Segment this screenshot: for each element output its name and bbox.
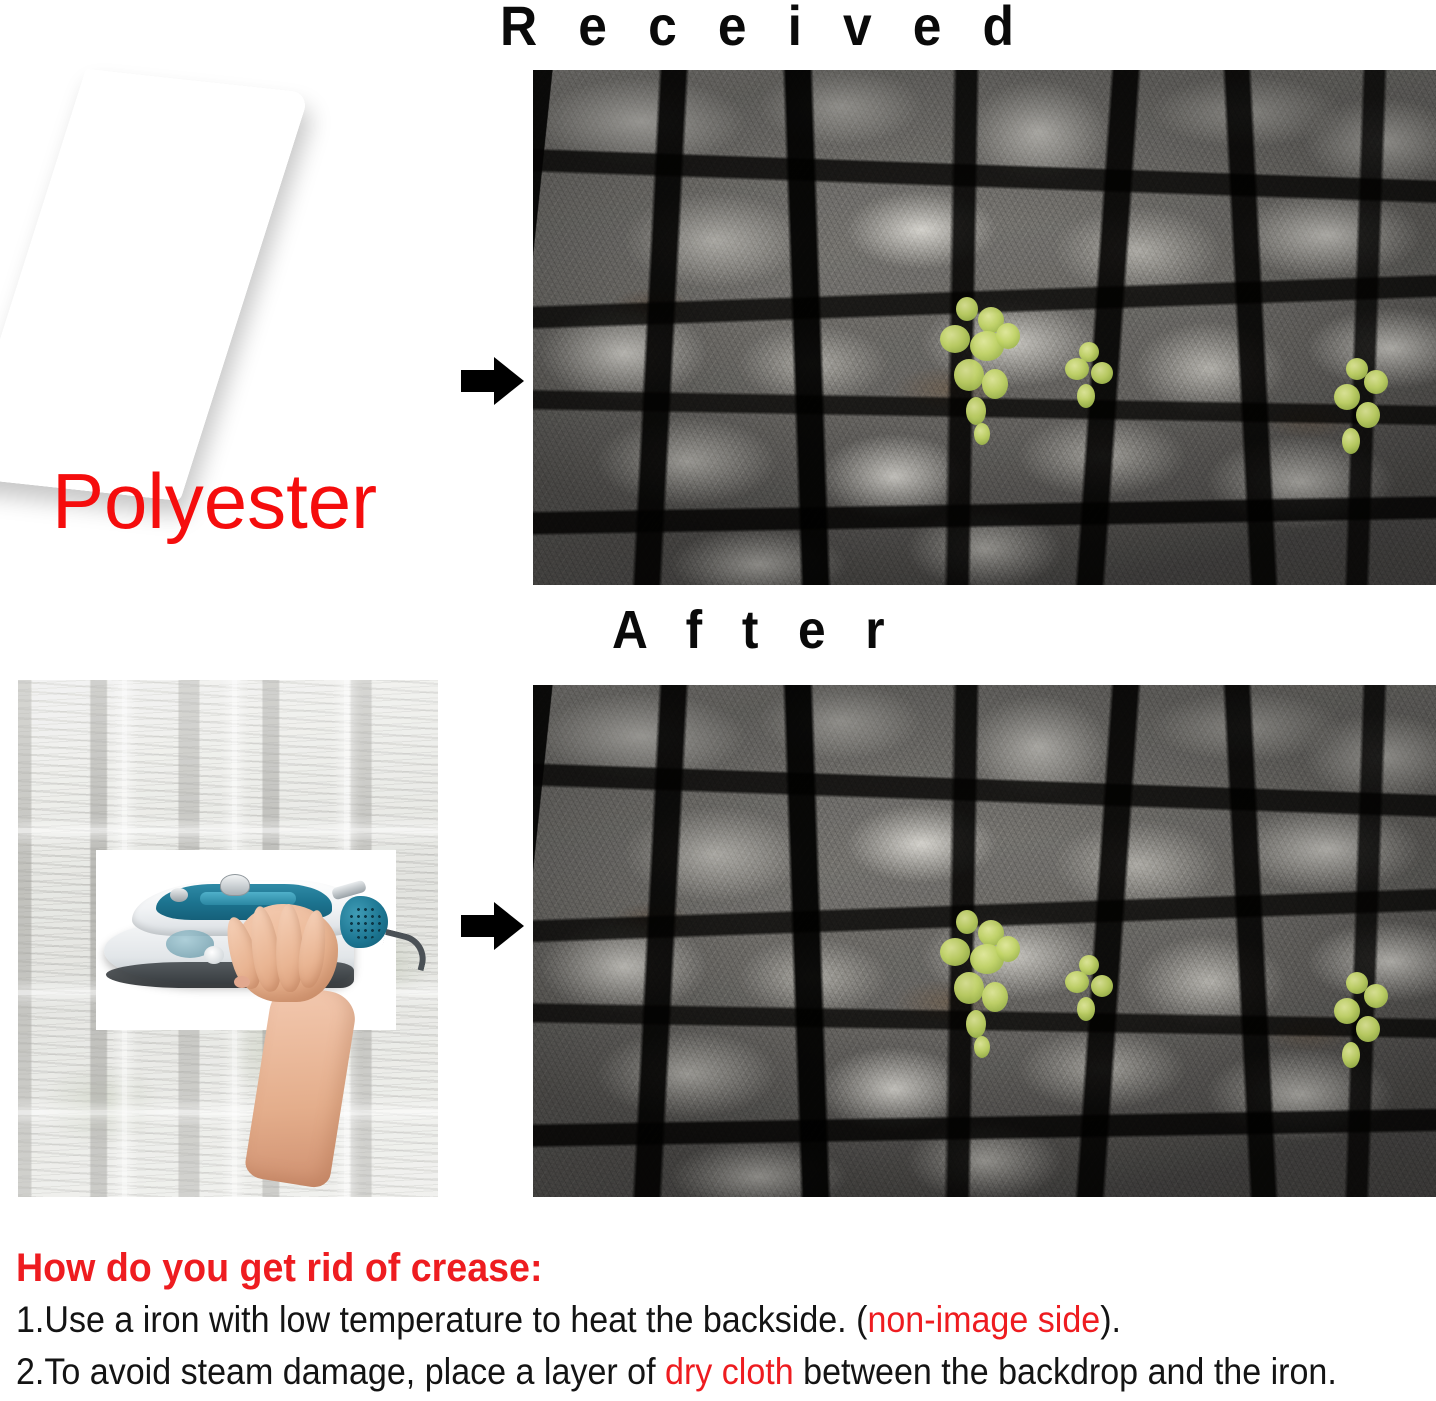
instruction-line-2-highlight: dry cloth — [665, 1351, 794, 1392]
instruction-line-1: 1.Use a iron with low temperature to hea… — [16, 1297, 1317, 1343]
instruction-line-1-part-2: ). — [1100, 1299, 1121, 1340]
arrow-shaft — [461, 370, 497, 392]
after-backdrop-photo — [533, 685, 1436, 1197]
instructions-heading: How do you get rid of crease: — [16, 1246, 1345, 1291]
instruction-line-1-highlight: non-image side — [867, 1299, 1100, 1340]
instructions-block: How do you get rid of crease: 1.Use a ir… — [16, 1246, 1430, 1395]
fingernail — [234, 976, 250, 988]
iron-steam-button — [170, 888, 188, 902]
received-backdrop-photo — [533, 70, 1436, 585]
instruction-line-2-part-2: between the backdrop and the iron. — [794, 1351, 1337, 1392]
instruction-line-2: 2.To avoid steam damage, place a layer o… — [16, 1349, 1317, 1395]
instruction-line-1-part-1: 1.Use a iron with low temperature to hea… — [16, 1299, 867, 1340]
hand-icon — [196, 880, 366, 1180]
right-arrow-icon-received — [461, 357, 525, 405]
rock-vignette — [533, 70, 1436, 585]
polyester-material-label: Polyester — [52, 462, 377, 540]
right-arrow-icon-after — [461, 902, 525, 950]
arrow-shaft — [461, 915, 497, 937]
rock-vignette — [533, 685, 1436, 1197]
instruction-line-2-part-1: 2.To avoid steam damage, place a layer o… — [16, 1351, 665, 1392]
folded-polyester-fabric-image — [0, 69, 310, 501]
forearm — [243, 982, 359, 1189]
arrow-head — [494, 902, 524, 950]
after-section-label: A f t e r — [612, 603, 898, 657]
arrow-head — [494, 357, 524, 405]
received-section-label: R e c e i v e d — [500, 0, 1027, 54]
